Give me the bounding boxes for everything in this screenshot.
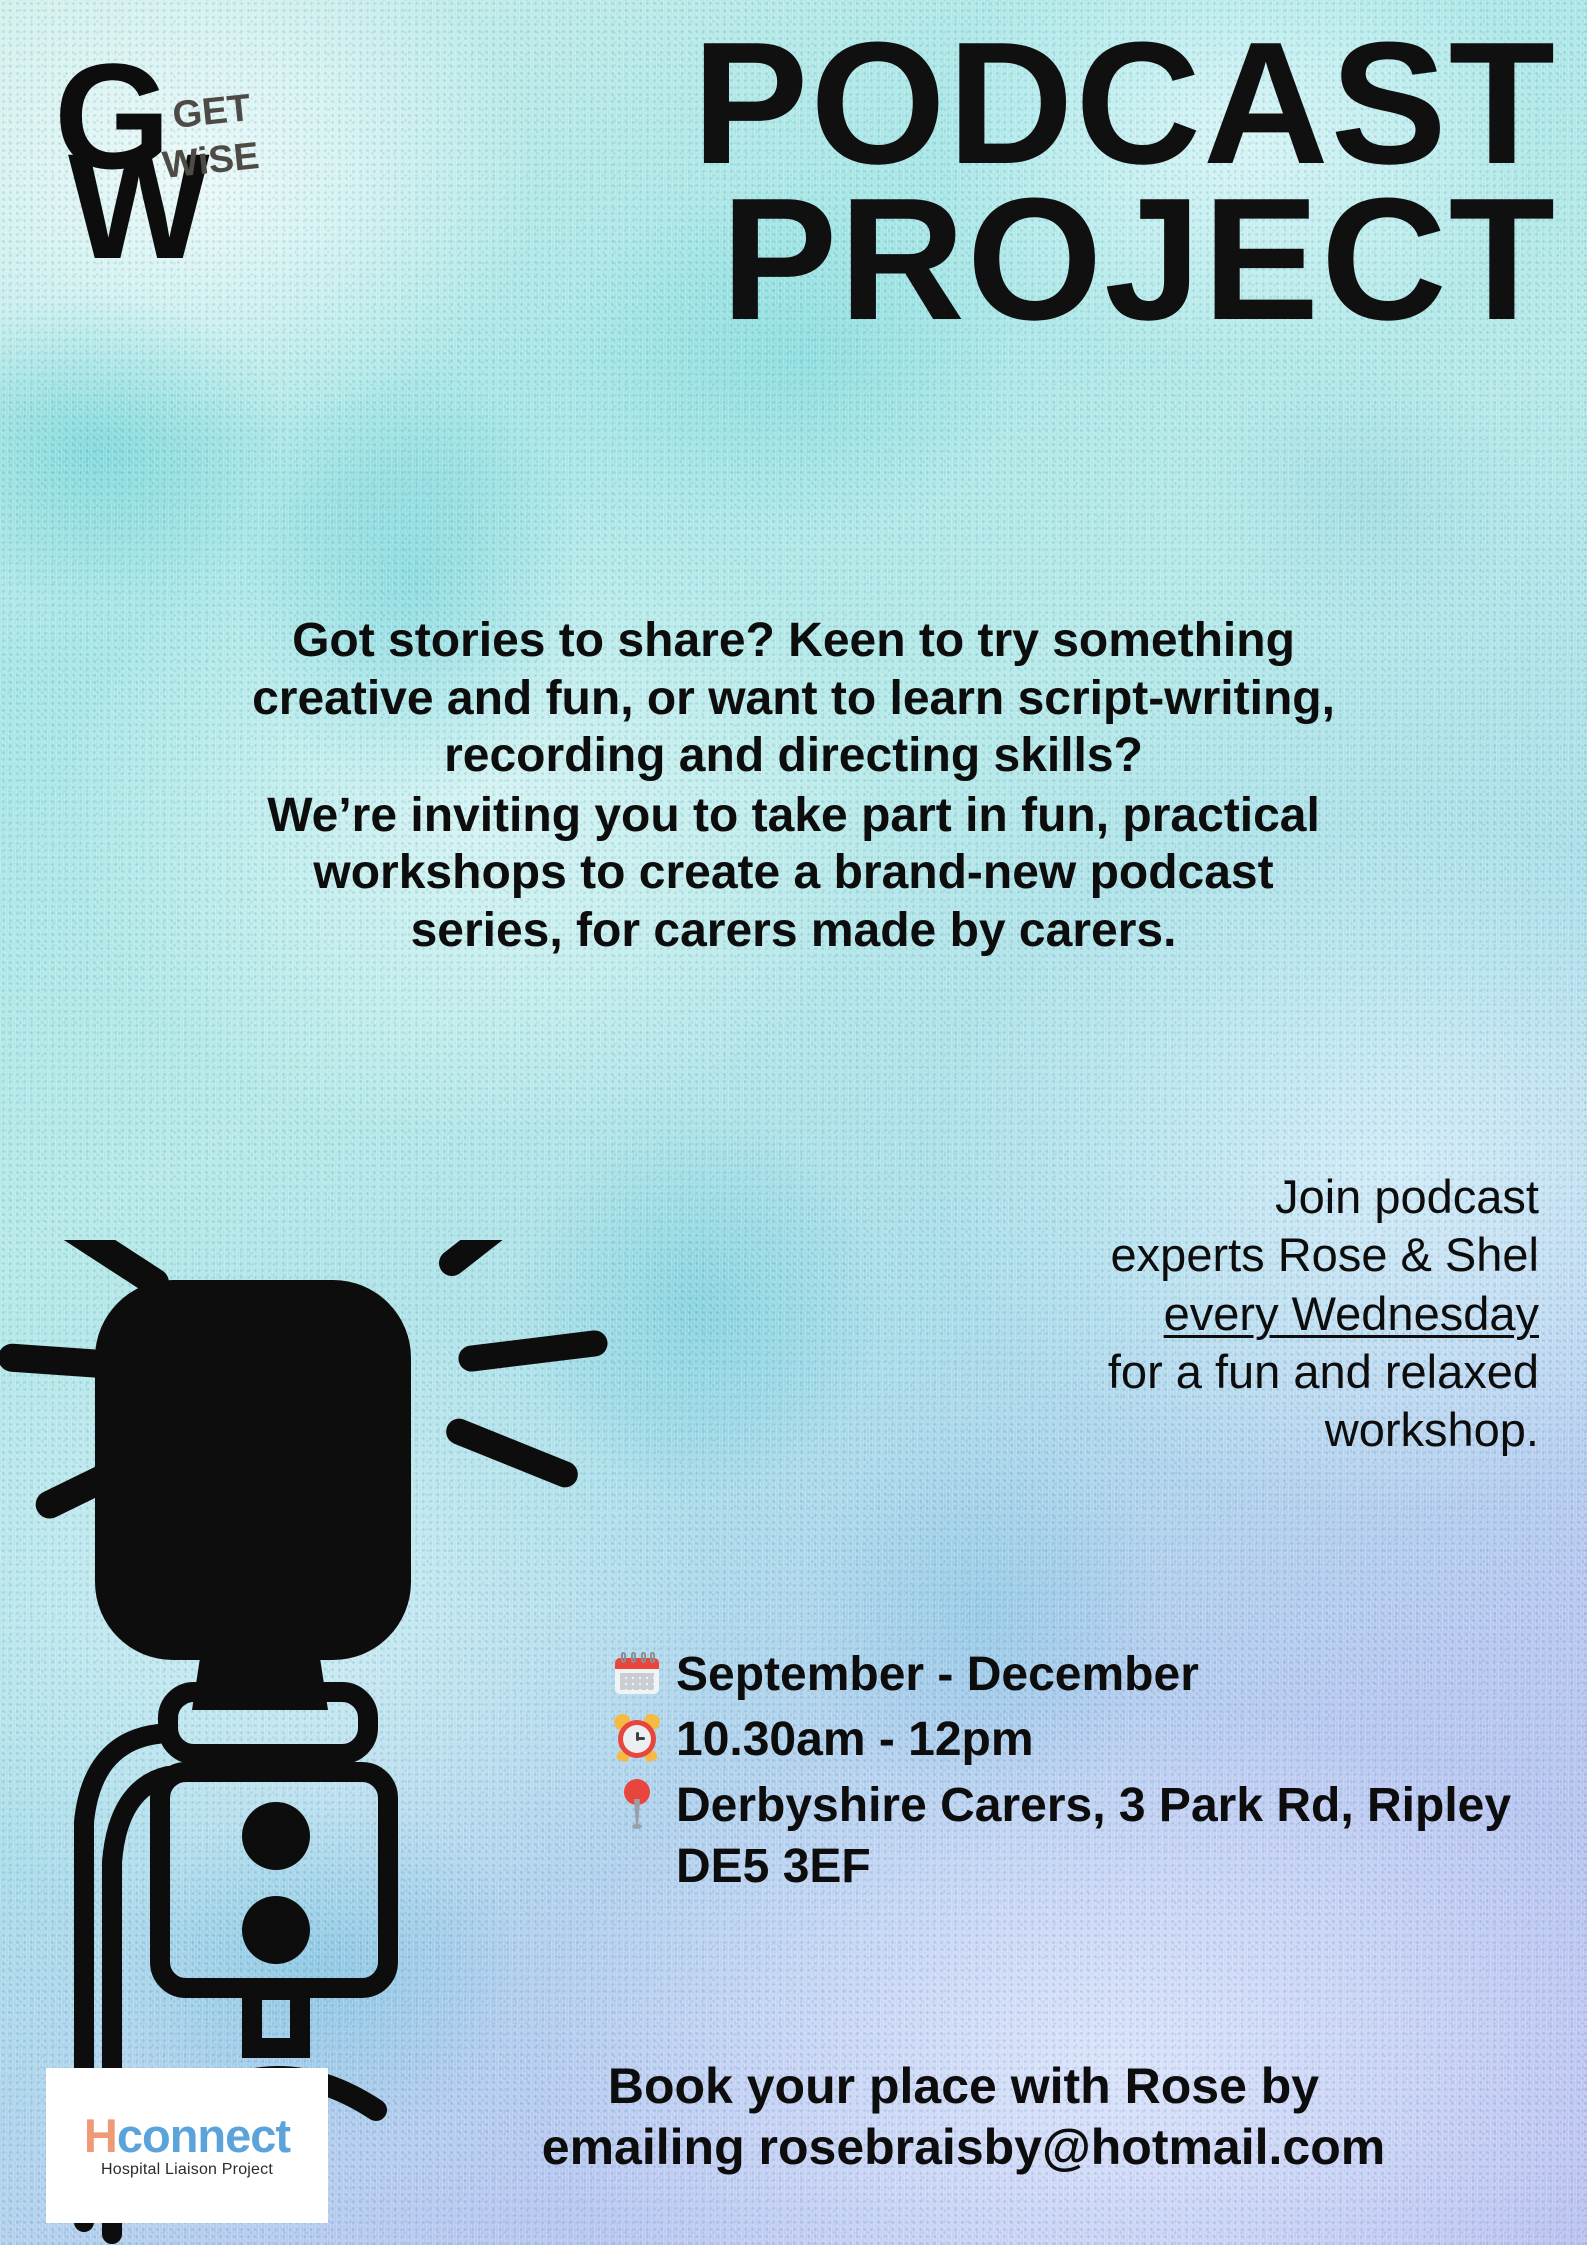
hconnect-tagline: Hospital Liaison Project: [101, 2161, 273, 2179]
join-line-2: experts Rose & Shel: [929, 1226, 1539, 1284]
intro-line-1: Got stories to share? Keen to try someth…: [60, 612, 1527, 670]
join-line-1: Join podcast: [929, 1168, 1539, 1226]
title-line-1: PODCAST: [0, 28, 1557, 178]
intro-line-6: series, for carers made by carers.: [60, 902, 1527, 960]
hconnect-word-connect: connect: [117, 2109, 290, 2162]
hconnect-logo: Hconnect Hospital Liaison Project: [46, 2068, 328, 2223]
hconnect-letter-h: H: [84, 2109, 117, 2162]
booking-line-1: Book your place with Rose by: [380, 2056, 1547, 2117]
join-emphasis: every Wednesday: [929, 1285, 1539, 1343]
page-title: PODCAST PROJECT: [0, 28, 1557, 333]
detail-row-date: September - December: [612, 1644, 1547, 1705]
intro-line-2: creative and fun, or want to learn scrip…: [60, 670, 1527, 728]
join-experts-block: Join podcast experts Rose & Shel every W…: [929, 1168, 1539, 1459]
intro-line-4: We’re inviting you to take part in fun, …: [60, 787, 1527, 845]
event-details-list: September - December 10.30am - 12pm: [612, 1644, 1547, 1902]
detail-row-time: 10.30am - 12pm: [612, 1709, 1547, 1770]
intro-paragraph: Got stories to share? Keen to try someth…: [60, 612, 1527, 960]
detail-date-text: September - December: [676, 1644, 1547, 1705]
poster-canvas: G W GET WiSE PODCAST PROJECT Got stories…: [0, 0, 1587, 2245]
join-line-4: workshop.: [929, 1401, 1539, 1459]
calendar-icon: [612, 1644, 662, 1700]
title-line-2: PROJECT: [0, 184, 1557, 334]
detail-time-text: 10.30am - 12pm: [676, 1709, 1547, 1770]
join-line-3: for a fun and relaxed: [929, 1343, 1539, 1401]
alarm-clock-icon: [612, 1709, 662, 1765]
intro-line-3: recording and directing skills?: [60, 727, 1527, 785]
hconnect-wordmark: Hconnect: [84, 2112, 290, 2159]
map-pin-icon: [612, 1775, 662, 1831]
detail-location-text: Derbyshire Carers, 3 Park Rd, Ripley DE5…: [676, 1775, 1547, 1898]
detail-row-location: Derbyshire Carers, 3 Park Rd, Ripley DE5…: [612, 1775, 1547, 1898]
intro-line-5: workshops to create a brand-new podcast: [60, 844, 1527, 902]
booking-line-2: emailing rosebraisby@hotmail.com: [380, 2117, 1547, 2178]
booking-instructions: Book your place with Rose by emailing ro…: [380, 2056, 1547, 2178]
